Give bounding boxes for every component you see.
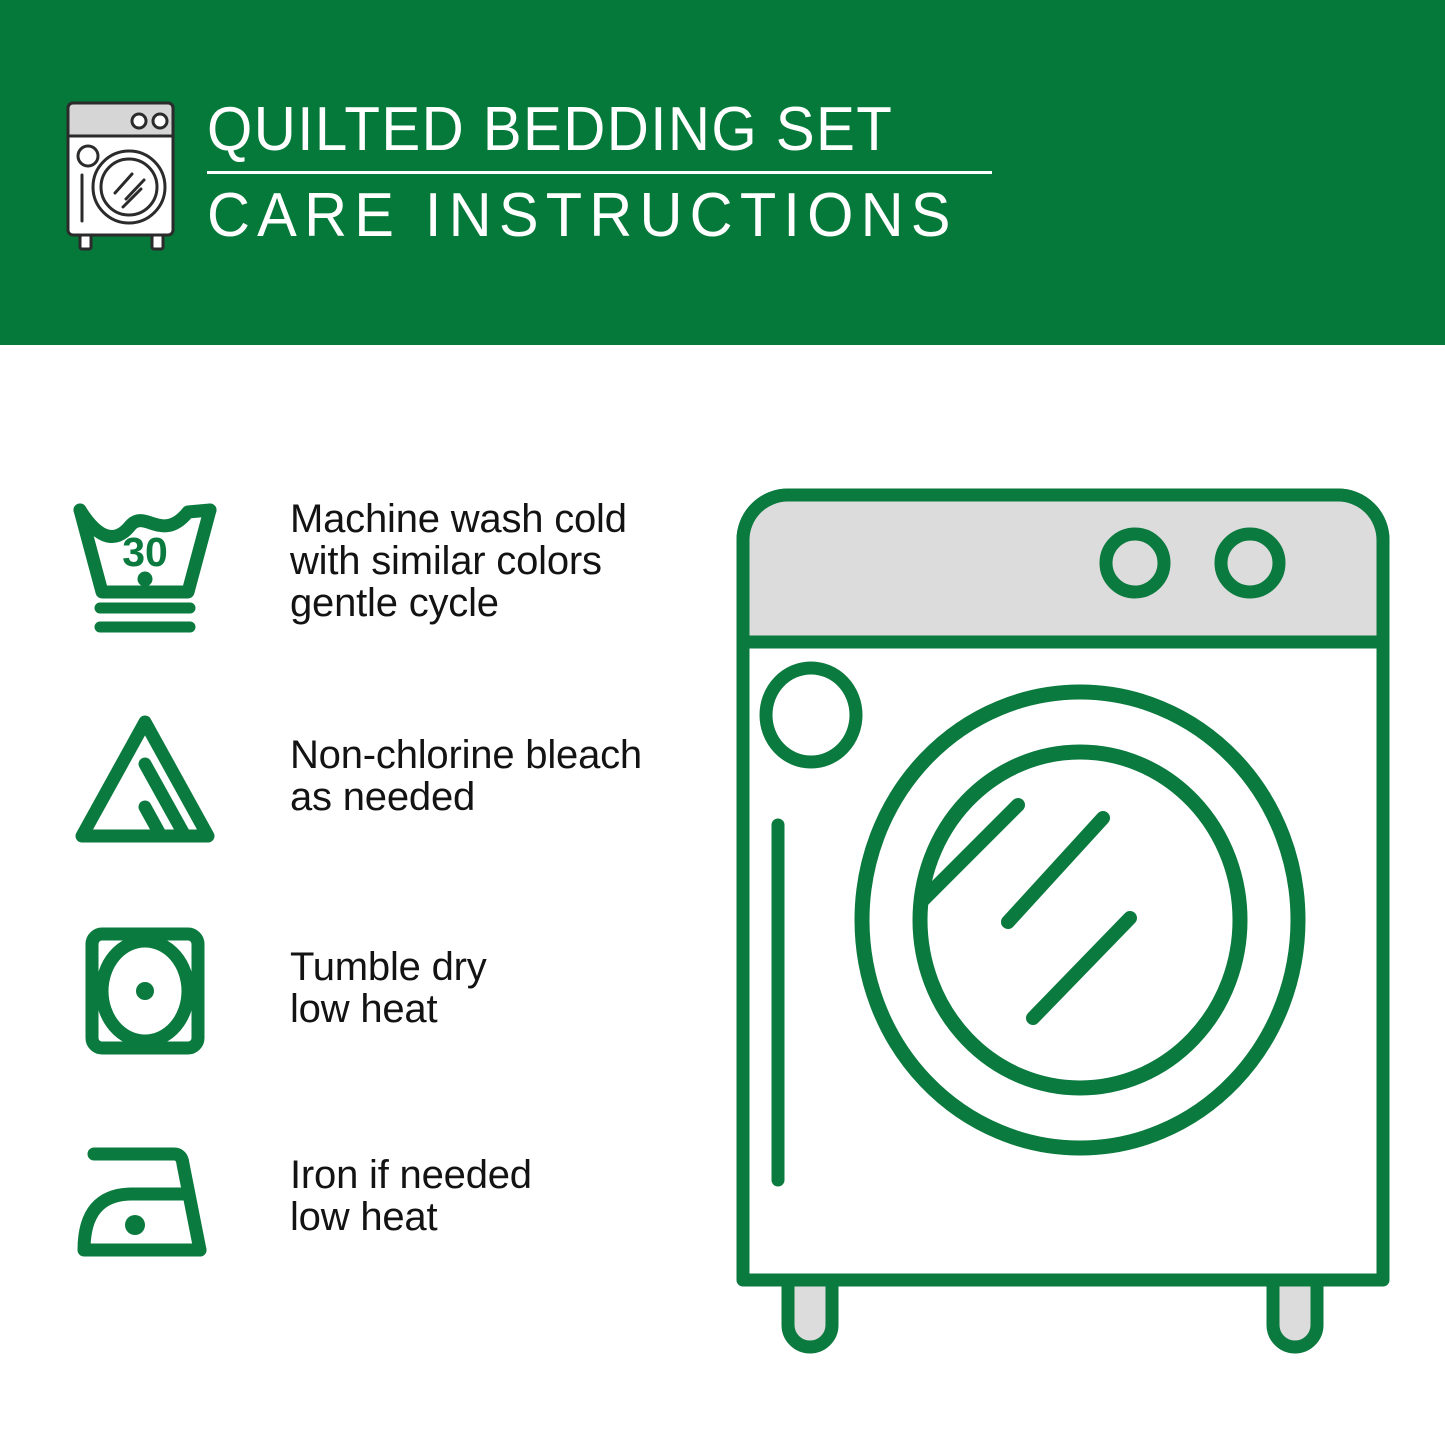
care-text-machine-wash: Machine wash cold with similar colors ge… [235,492,690,624]
knob-right [1221,534,1279,592]
iron-low-heat-dot [125,1215,145,1235]
title-divider [207,171,992,174]
header-content: QUILTED BEDDING SET CARE INSTRUCTIONS [60,95,1390,270]
care-instruction-list: 30 Machine wash cold with similar colors… [70,492,690,1340]
front-load-washing-machine-illustration [718,470,1408,1370]
page-title: QUILTED BEDDING SET [207,97,954,163]
door-inner-ring [920,752,1240,1088]
dispenser-circle [766,668,856,762]
care-row-bleach: Non-chlorine bleach as needed [70,704,690,916]
care-row-iron: Iron if needed low heat [70,1128,690,1340]
gentle-cycle-dot [138,572,153,587]
care-text-iron: Iron if needed low heat [235,1128,690,1238]
care-row-tumble-dry: Tumble dry low heat [70,916,690,1128]
care-text-tumble-dry: Tumble dry low heat [235,916,690,1030]
washing-machine-icon [60,95,185,255]
iron-low-heat-icon [70,1128,235,1278]
low-heat-dot [136,982,154,1000]
control-panel [743,495,1383,642]
header-band: QUILTED BEDDING SET CARE INSTRUCTIONS [0,0,1445,345]
tumble-dry-low-icon [70,916,235,1066]
care-text-bleach: Non-chlorine bleach as needed [235,704,690,818]
care-instructions-page: QUILTED BEDDING SET CARE INSTRUCTIONS 30 [0,0,1445,1445]
machine-wash-30-gentle-icon: 30 [70,492,235,642]
wash-temperature-label: 30 [122,529,168,575]
page-subtitle: CARE INSTRUCTIONS [207,183,970,249]
care-row-machine-wash: 30 Machine wash cold with similar colors… [70,492,690,704]
leg-right [1273,1280,1317,1347]
non-chlorine-bleach-icon [70,704,235,854]
header-text-block: QUILTED BEDDING SET CARE INSTRUCTIONS [207,95,1002,249]
leg-left [788,1280,832,1347]
knob-left [1106,534,1164,592]
